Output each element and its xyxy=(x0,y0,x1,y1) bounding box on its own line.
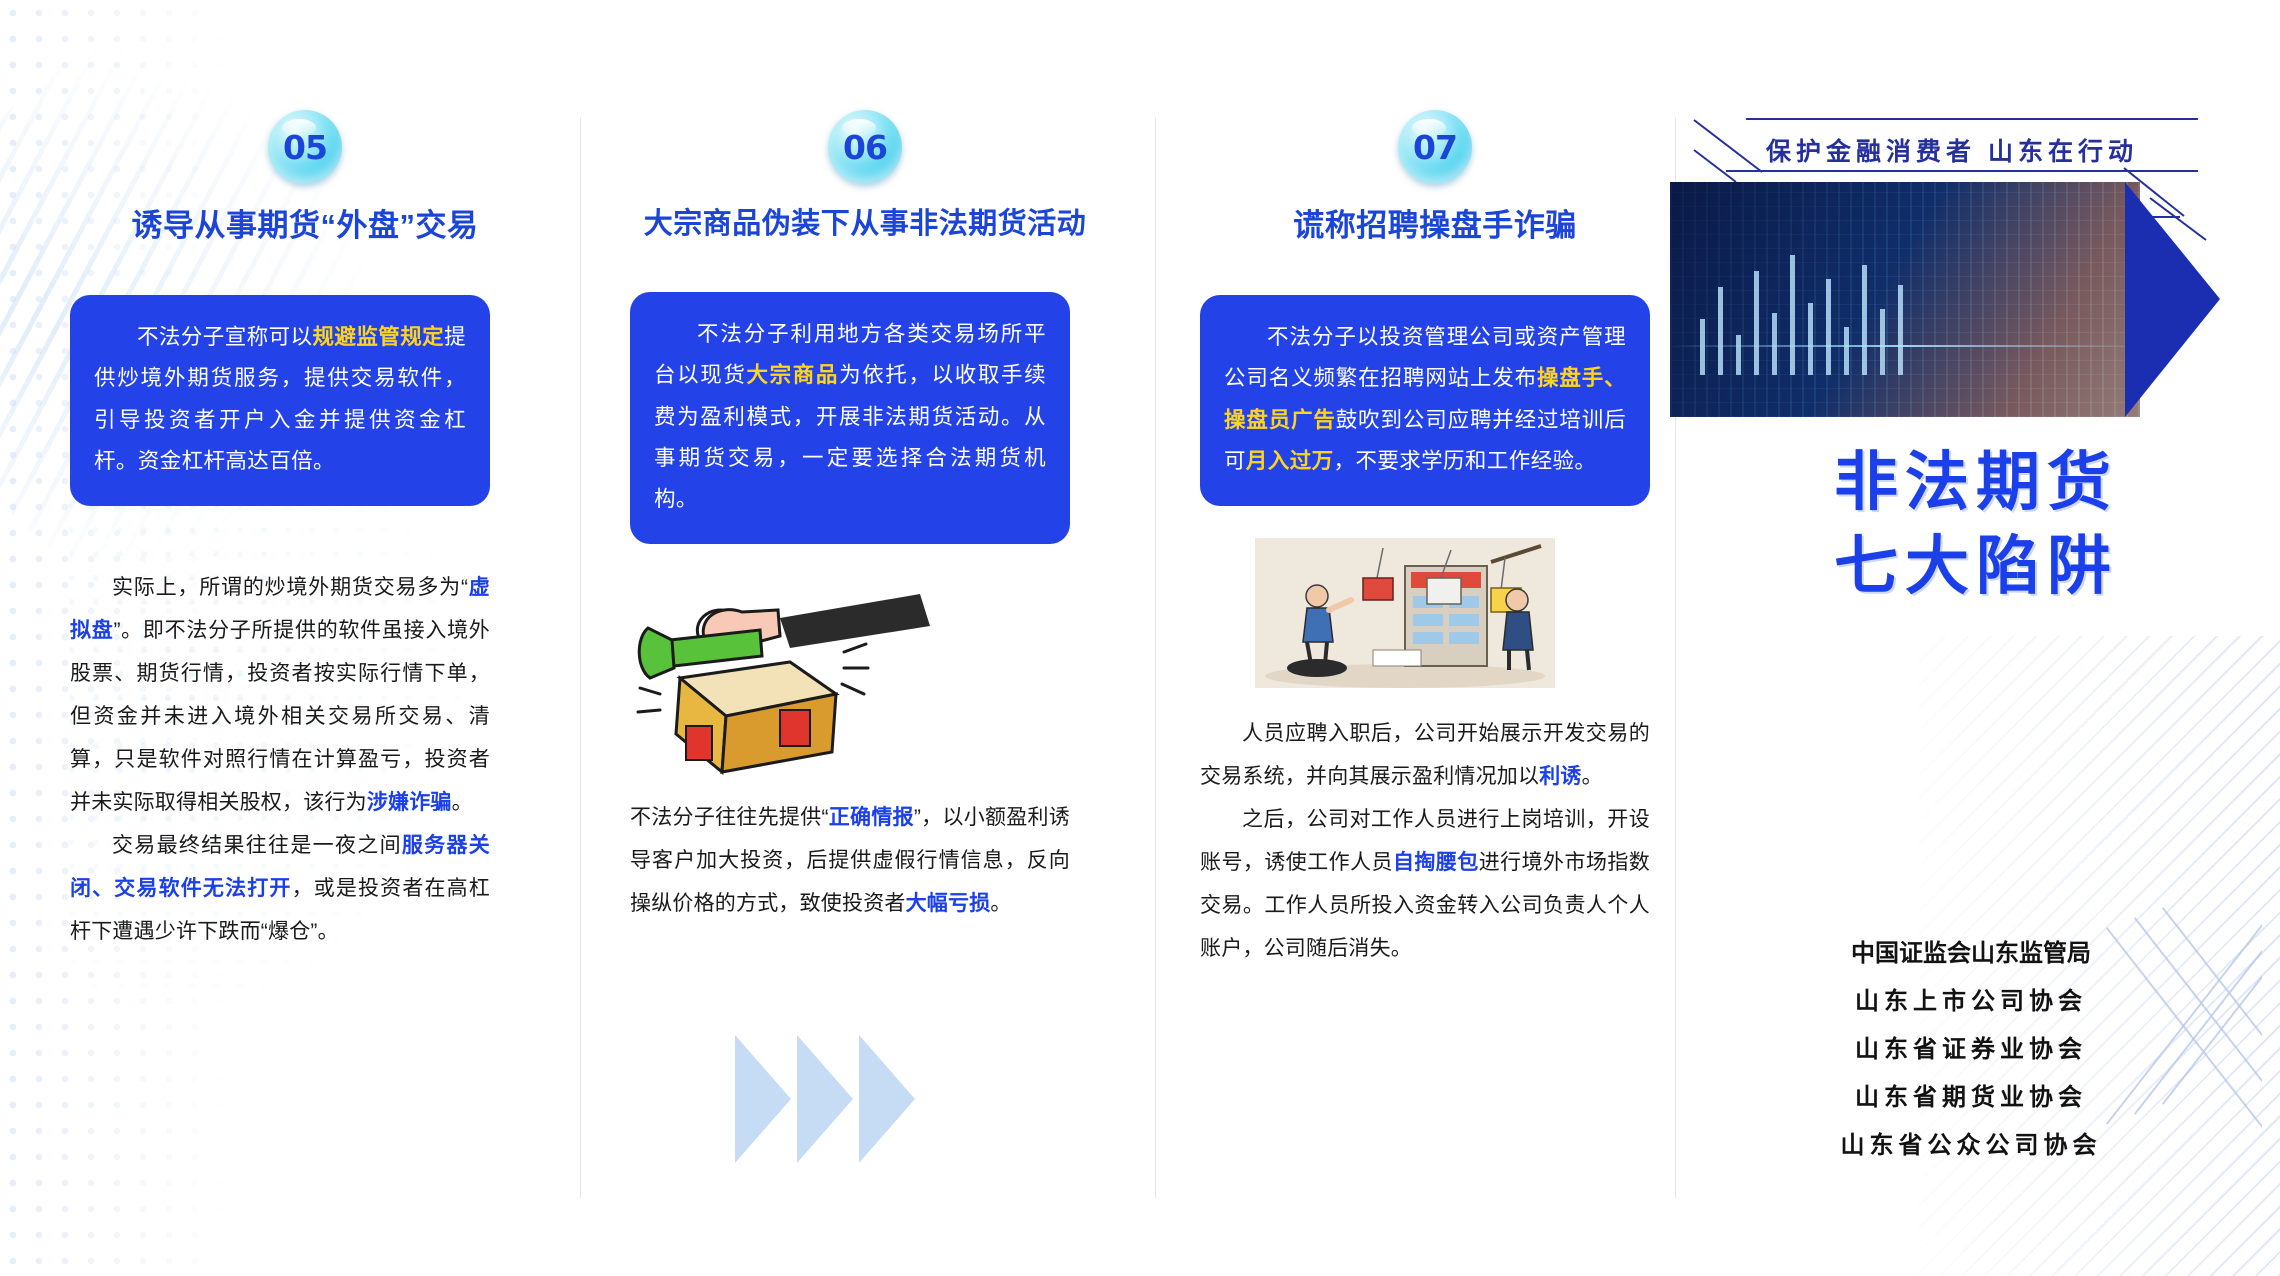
right-summary-panel: 保护金融消费者 山东在行动 汇聚金融力量 共创美好生活 非法期货 七大陷阱 中国… xyxy=(1690,0,2280,1276)
badge-number-text: 05 xyxy=(283,128,327,167)
body-text-07: 人员应聘入职后，公司开始展示开发交易的交易系统，并向其展示盈利情况加以利诱。 之… xyxy=(1200,712,1650,970)
banner-rule-top xyxy=(1746,118,2198,120)
badge-07-wrapper: 07 xyxy=(1200,110,1670,184)
hero-arrow-image xyxy=(1670,182,2230,417)
paragraph-07-2: 之后，公司对工作人员进行上岗培训，开设账号，诱使工作人员自掏腰包进行境外市场指数… xyxy=(1200,798,1650,970)
p05-1-part-b: ”。即不法分子所提供的软件虽接入境外股票、期货行情，投资者按实际行情下单，但资金… xyxy=(70,619,490,814)
callout-highlight-05: 规避监管规定 xyxy=(312,325,444,349)
paragraph-05-1: 实际上，所谓的炒境外期货交易多为“虚拟盘”。即不法分子所提供的软件虽接入境外股票… xyxy=(70,566,490,824)
organization-item: 山东省公众公司协会 xyxy=(1736,1122,2206,1170)
callout-box-07: 不法分子以投资管理公司或资产管理公司名义频繁在招聘网站上发布操盘手、操盘员广告鼓… xyxy=(1200,295,1650,506)
callout-text-06: 不法分子利用地方各类交易场所平台以现货大宗商品为依托，以收取手续费为盈利模式，开… xyxy=(654,314,1046,520)
number-badge-05: 05 xyxy=(268,110,342,184)
column-title-06: 大宗商品伪装下从事非法期货活动 xyxy=(630,200,1100,242)
callout-tail-07: ，不要求学历和工作经验。 xyxy=(1334,449,1597,473)
column-divider-2 xyxy=(1155,118,1156,1198)
p06-part-a: 不法分子往往先提供“ xyxy=(630,806,829,829)
p06-part-c: 。 xyxy=(990,892,1011,915)
fishing-scam-drawing xyxy=(1255,538,1555,688)
organization-list: 中国证监会山东监管局 山东上市公司协会 山东省证券业协会 山东省期货业协会 山东… xyxy=(1736,930,2206,1170)
illustration-wrench-box xyxy=(630,582,1070,782)
trading-screen-photo xyxy=(1670,182,2140,417)
banner-title: 保护金融消费者 山东在行动 xyxy=(1766,132,2138,168)
p05-1-highlight-b: 涉嫌诈骗 xyxy=(367,791,452,814)
callout-text-07: 不法分子以投资管理公司或资产管理公司名义频繁在招聘网站上发布操盘手、操盘员广告鼓… xyxy=(1224,317,1626,482)
paragraph-05-2: 交易最终结果往往是一夜之间服务器关闭、交易软件无法打开，或是投资者在高杠杆下遭遇… xyxy=(70,824,490,953)
main-title-line-2: 七大陷阱 xyxy=(1756,524,2196,608)
p07-2-highlight-a: 自掏腰包 xyxy=(1393,851,1479,874)
organization-item: 山东上市公司协会 xyxy=(1736,978,2206,1026)
trap-column-07: 07 谎称招聘操盘手诈骗 不法分子以投资管理公司或资产管理公司名义频繁在招聘网站… xyxy=(1200,0,1670,1276)
badge-06-wrapper: 06 xyxy=(630,110,1100,184)
p06-highlight-b: 大幅亏损 xyxy=(906,892,991,915)
arrow-head-shape xyxy=(2125,182,2220,417)
illustration-fishing-scam xyxy=(1255,538,1555,688)
p05-2-part-a: 交易最终结果往往是一夜之间 xyxy=(112,834,402,857)
organization-item: 山东省证券业协会 xyxy=(1736,1026,2206,1074)
badge-number-text: 06 xyxy=(843,128,887,167)
callout-highlight-06: 大宗商品 xyxy=(747,363,840,387)
p07-1-part-b: 。 xyxy=(1582,765,1603,788)
wrench-box-drawing xyxy=(630,582,1070,782)
callout-text-05: 不法分子宣称可以规避监管规定提供炒境外期货服务，提供交易软件，引导投资者开户入金… xyxy=(94,317,466,482)
callout-box-06: 不法分子利用地方各类交易场所平台以现货大宗商品为依托，以收取手续费为盈利模式，开… xyxy=(630,292,1070,544)
organization-item: 中国证监会山东监管局 xyxy=(1736,930,2206,978)
organization-item: 山东省期货业协会 xyxy=(1736,1074,2206,1122)
paragraph-06-1: 不法分子往往先提供“正确情报”，以小额盈利诱导客户加大投资，后提供虚假行情信息，… xyxy=(630,796,1070,925)
chevron-arrow-decoration xyxy=(735,1035,965,1165)
body-text-05: 实际上，所谓的炒境外期货交易多为“虚拟盘”。即不法分子所提供的软件虽接入境外股票… xyxy=(70,566,490,953)
trap-column-05: 05 诱导从事期货“外盘”交易 不法分子宣称可以规避监管规定提供炒境外期货服务，… xyxy=(70,0,540,1276)
number-badge-06: 06 xyxy=(828,110,902,184)
number-badge-07: 07 xyxy=(1398,110,1472,184)
paragraph-07-1: 人员应聘入职后，公司开始展示开发交易的交易系统，并向其展示盈利情况加以利诱。 xyxy=(1200,712,1650,798)
column-divider-1 xyxy=(580,118,581,1198)
body-text-06: 不法分子往往先提供“正确情报”，以小额盈利诱导客户加大投资，后提供虚假行情信息，… xyxy=(630,796,1070,925)
badge-number-text: 07 xyxy=(1413,128,1457,167)
column-title-07: 谎称招聘操盘手诈骗 xyxy=(1200,200,1670,245)
badge-05-wrapper: 05 xyxy=(70,110,540,184)
column-title-05: 诱导从事期货“外盘”交易 xyxy=(70,200,540,245)
p07-1-highlight-a: 利诱 xyxy=(1539,765,1581,788)
p05-1-part-c: 。 xyxy=(452,791,473,814)
p06-highlight-a: 正确情报 xyxy=(829,806,914,829)
callout-lead-05: 不法分子宣称可以 xyxy=(137,325,312,349)
callout-box-05: 不法分子宣称可以规避监管规定提供炒境外期货服务，提供交易软件，引导投资者开户入金… xyxy=(70,295,490,506)
poster-main-title: 非法期货 七大陷阱 xyxy=(1756,440,2196,609)
p05-1-part-a: 实际上，所谓的炒境外期货交易多为“ xyxy=(112,576,468,599)
callout-highlight2-07: 月入过万 xyxy=(1246,449,1334,473)
main-title-line-1: 非法期货 xyxy=(1756,440,2196,524)
